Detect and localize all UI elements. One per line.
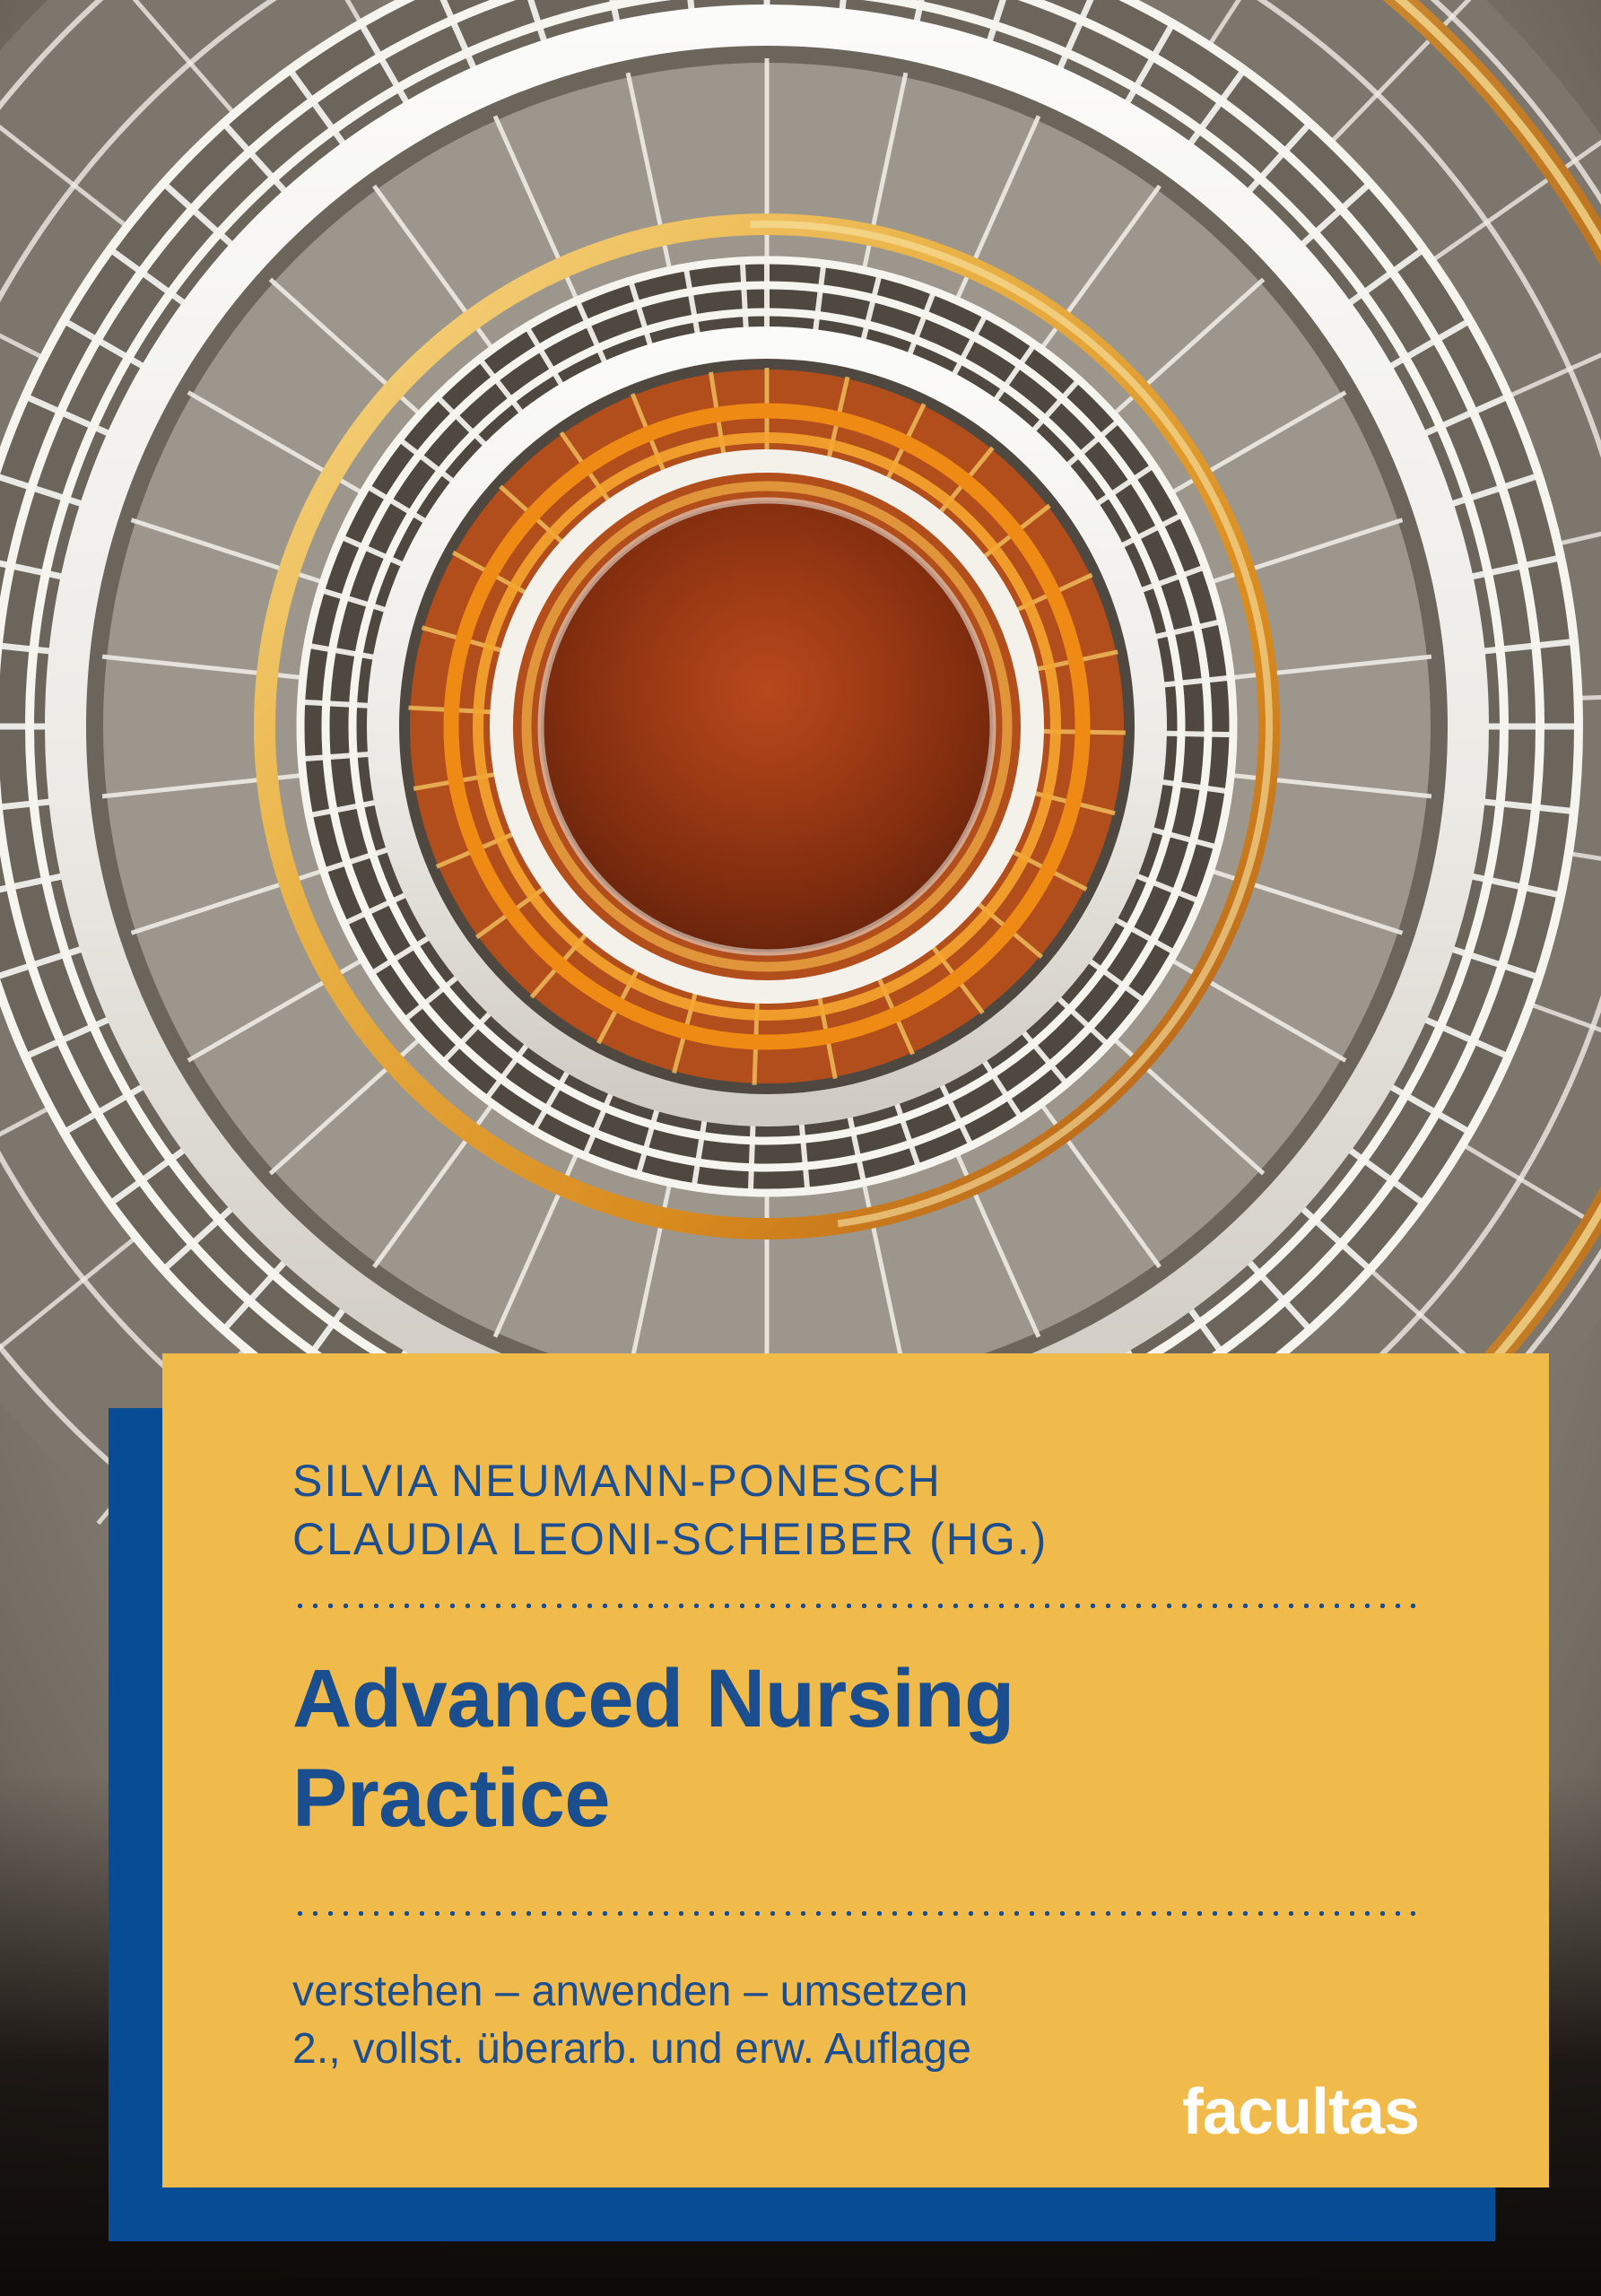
dotted-rule-top: [292, 1602, 1419, 1610]
author-line-1: SILVIA NEUMANN-PONESCH: [292, 1452, 1419, 1510]
dotted-rule-bottom: [292, 1909, 1419, 1918]
subtitle-line-2: 2., vollst. überarb. und erw. Auflage: [292, 2021, 1419, 2078]
authors: SILVIA NEUMANN-PONESCH CLAUDIA LEONI-SCH…: [292, 1452, 1419, 1569]
subtitle-line-1: verstehen – anwenden – umsetzen: [292, 1963, 1419, 2021]
title-line-2: Practice: [292, 1749, 1419, 1848]
author-line-2: CLAUDIA LEONI-SCHEIBER (HG.): [292, 1510, 1419, 1569]
subtitle: verstehen – anwenden – umsetzen 2., voll…: [292, 1963, 1419, 2079]
book-cover: SILVIA NEUMANN-PONESCH CLAUDIA LEONI-SCH…: [0, 0, 1601, 2296]
title-line-1: Advanced Nursing: [292, 1649, 1419, 1749]
title-panel: SILVIA NEUMANN-PONESCH CLAUDIA LEONI-SCH…: [162, 1353, 1549, 2187]
publisher-logo: facultas: [1182, 2080, 1419, 2144]
page-title: Advanced Nursing Practice: [292, 1649, 1419, 1849]
title-panel-content: SILVIA NEUMANN-PONESCH CLAUDIA LEONI-SCH…: [292, 1353, 1419, 2187]
